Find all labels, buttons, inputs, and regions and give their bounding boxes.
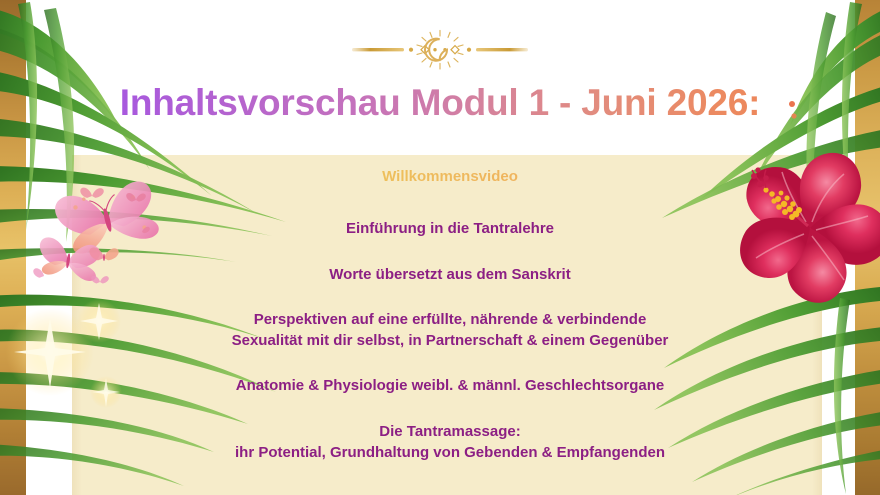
content-line: Worte übersetzt aus dem Sanskrit	[90, 264, 810, 285]
content-line: Perspektiven auf eine erfüllte, nährende…	[90, 309, 810, 330]
slide-canvas: Inhaltsvorschau Modul 1 - Juni 2026: Wil…	[0, 0, 880, 495]
content-block: Die Tantramassage: ihr Potential, Grundh…	[90, 421, 810, 464]
content-block: Willkommensvideo	[90, 166, 810, 187]
content-block: Einführung in die Tantralehre	[90, 218, 810, 239]
panel-edge-left	[72, 155, 82, 495]
sun-moon-divider-ornament	[316, 28, 564, 72]
panel-edge-right	[812, 155, 822, 495]
content-line: Anatomie & Physiologie weibl. & männl. G…	[90, 375, 810, 396]
content-line: Willkommensvideo	[90, 166, 810, 187]
content-line: ihr Potential, Grundhaltung von Gebenden…	[90, 442, 810, 463]
content-block: Worte übersetzt aus dem Sanskrit	[90, 264, 810, 285]
content-block: Perspektiven auf eine erfüllte, nährende…	[90, 309, 810, 352]
content-block: Anatomie & Physiologie weibl. & männl. G…	[90, 375, 810, 396]
content-list: Willkommensvideo Einführung in die Tantr…	[90, 166, 810, 487]
page-title: Inhaltsvorschau Modul 1 - Juni 2026:	[0, 82, 880, 124]
content-line: Die Tantramassage:	[90, 421, 810, 442]
content-line: Sexualität mit dir selbst, in Partnersch…	[90, 330, 810, 351]
content-line: Einführung in die Tantralehre	[90, 218, 810, 239]
gold-strip-left	[0, 0, 26, 495]
gold-strip-right	[855, 0, 880, 495]
